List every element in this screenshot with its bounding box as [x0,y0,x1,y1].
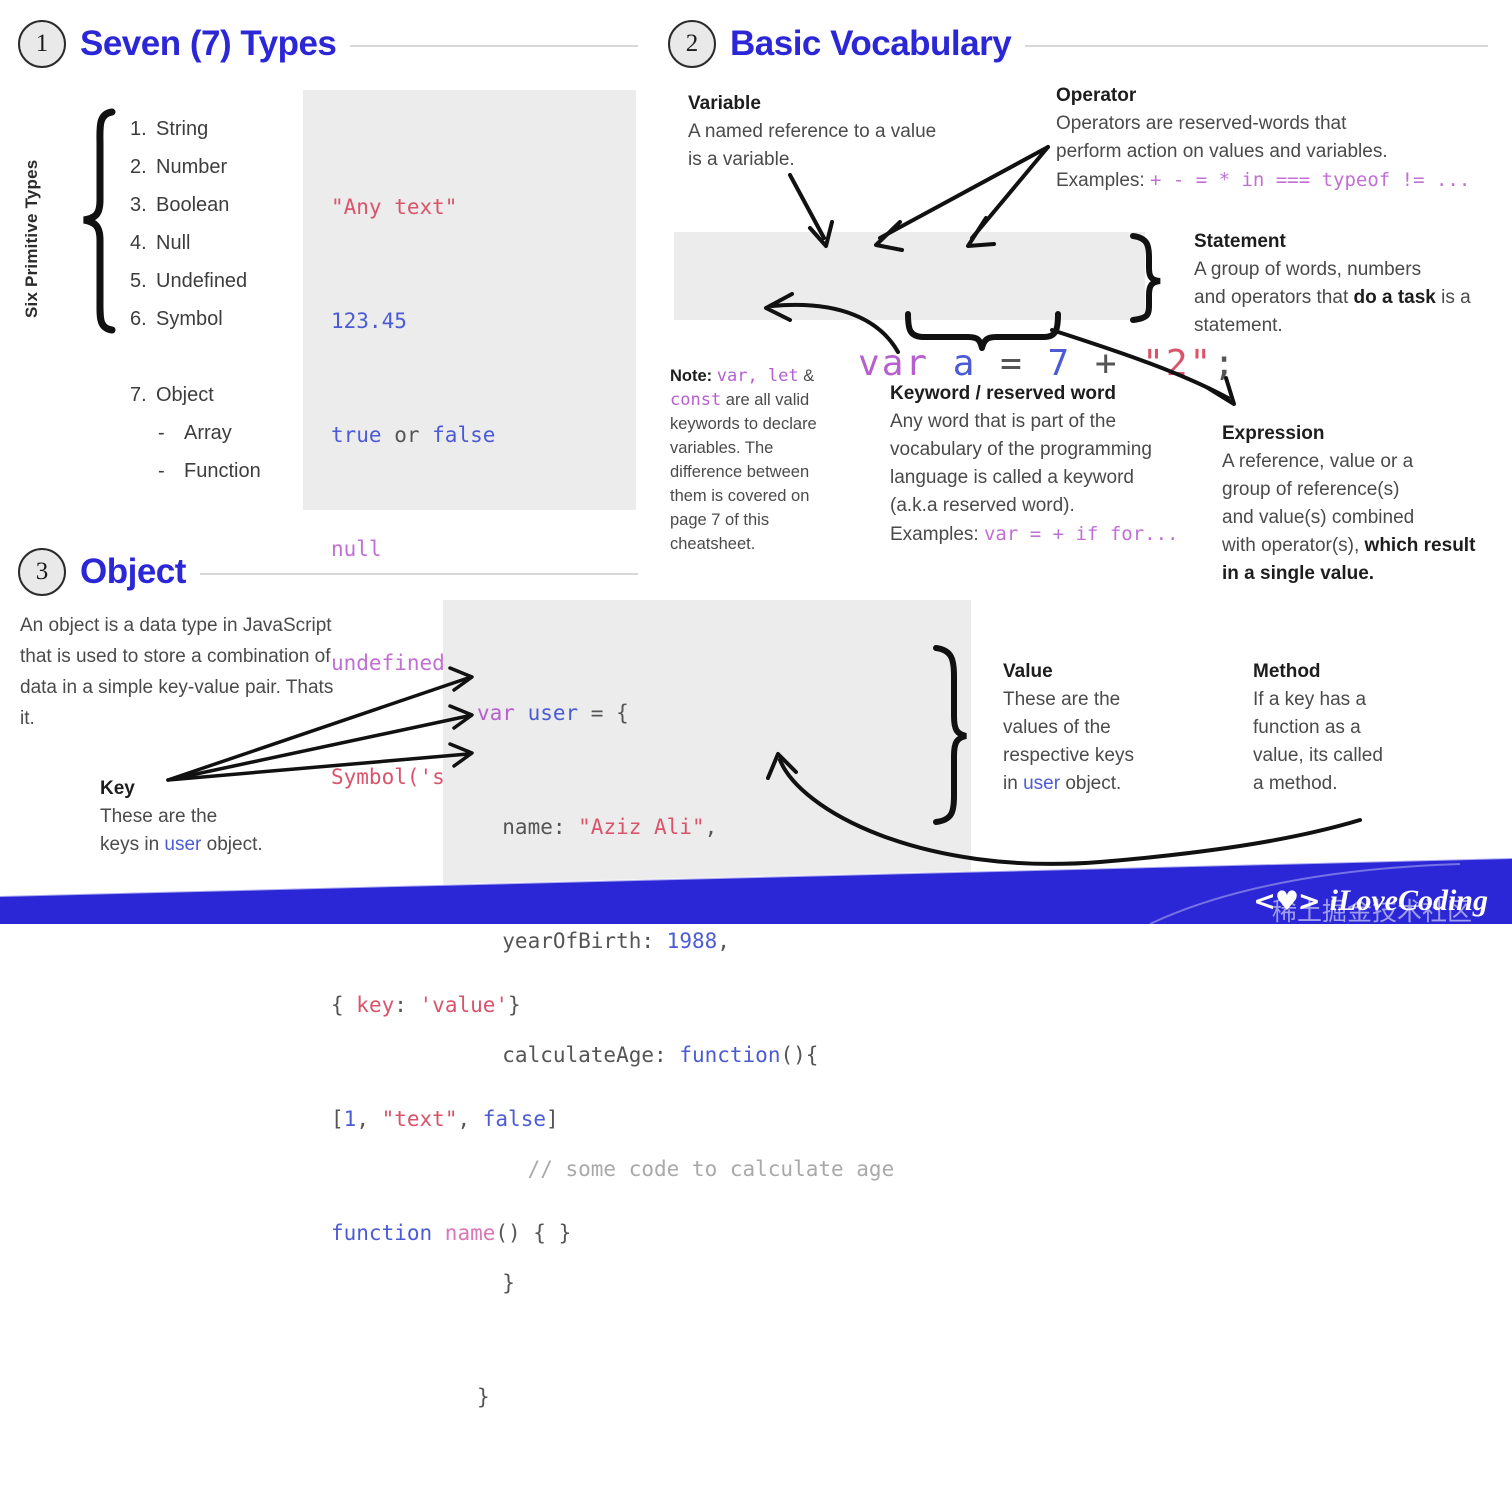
code-line-string: "Any text" [331,188,636,226]
method-line-1: If a key has a [1253,689,1366,710]
operator-examples-code: + - = * in === typeof != ... [1150,169,1470,191]
list-item: 5.Undefined [130,262,261,300]
note-amp: & [799,367,815,385]
types-list: 1.String 2.Number 3.Boolean 4.Null 5.Und… [130,110,261,490]
note-body: are all valid keywords to declare variab… [670,391,817,553]
primitive-types-brace [84,112,112,330]
section-1-title: Seven (7) Types [80,24,336,64]
item-label: Boolean [156,186,229,224]
statement-heading: Statement [1194,228,1484,256]
note-keywords-2: const [670,390,721,410]
item-number: 2. [130,148,156,186]
list-item: 3.Boolean [130,186,261,224]
code-token-semicolon: ; [1213,343,1237,384]
expression-line-2: group of reference(s) [1222,479,1399,500]
object-code-line-6: } [477,1264,971,1302]
code-token-seven: 7 [1047,343,1071,384]
item-label: Null [156,224,190,262]
keyword-examples-label: Examples: [890,524,984,545]
code-line-number: 123.45 [331,302,636,340]
item-label: Array [184,414,232,452]
method-line-4: a method. [1253,773,1338,794]
value-line-3: respective keys [1003,745,1134,766]
item-label: Symbol [156,300,223,338]
keyword-examples-code: var = + if for... [984,523,1178,545]
code-token-two: "2" [1142,343,1213,384]
statement-note: Statement A group of words, numbers and … [1194,228,1484,340]
code-token-plus: + [1071,343,1142,384]
section-3-badge: 3 [18,548,66,596]
list-item: -Array [130,414,261,452]
value-line-1: These are the [1003,689,1120,710]
operator-line-1: Operators are reserved-words that [1056,113,1346,134]
statement-line-1: A group of words, numbers [1194,259,1421,280]
section-2-header: 2 Basic Vocabulary [668,20,1488,68]
list-item: -Function [130,452,261,490]
statement-bold: do a task [1354,287,1436,308]
list-item: 6.Symbol [130,300,261,338]
item-number: 1. [130,110,156,148]
keyword-reserved-note: Keyword / reserved word Any word that is… [890,380,1180,549]
arrow-operator-plus [972,147,1048,238]
key-heading: Key [100,775,320,803]
note-label: Note: [670,367,717,385]
value-line-4c: object. [1060,773,1121,794]
method-note: Method If a key has a function as a valu… [1253,658,1483,798]
code-token-a: a [929,343,976,384]
key-line-1: These are the [100,806,217,827]
expression-heading: Expression [1222,420,1497,448]
item-number: 7. [130,376,156,414]
section-3-header: 3 Object [18,548,638,596]
types-code-panel: "Any text" 123.45 true or false null und… [303,90,636,510]
item-label: Object [156,376,214,414]
value-line-2: values of the [1003,717,1111,738]
expression-note: Expression A reference, value or a group… [1222,420,1497,588]
list-item: 1.String [130,110,261,148]
keyword-note: Note: var, let & const are all valid key… [670,364,845,556]
expression-line-4: with operator(s), [1222,535,1365,556]
item-number: 5. [130,262,156,300]
statement-line-2: and operators that [1194,287,1354,308]
expression-line-3: and value(s) combined [1222,507,1414,528]
value-line-4a: in [1003,773,1023,794]
variable-body: A named reference to a value is a variab… [688,121,936,170]
object-code-line-7: } [477,1378,971,1416]
item-label: Function [184,452,261,490]
item-label: Number [156,148,227,186]
operator-examples-label: Examples: [1056,170,1150,191]
item-number: 3. [130,186,156,224]
section-2-rule [1025,45,1488,47]
method-line-2: function as a [1253,717,1361,738]
value-note: Value These are the values of the respec… [1003,658,1223,798]
object-code-line-1: var user = { [477,694,971,732]
expression-line-1: A reference, value or a [1222,451,1413,472]
section-2-badge: 2 [668,20,716,68]
operator-note: Operator Operators are reserved-words th… [1056,82,1486,195]
value-user-ref: user [1023,773,1060,794]
object-code-line-5: // some code to calculate age [477,1150,971,1188]
six-primitive-types-label: Six Primitive Types [22,118,42,318]
object-code-line-3: yearOfBirth: 1988, [477,922,971,960]
item-bullet: - [158,414,184,452]
note-keywords-1: var, let [717,366,799,386]
object-code-line-4: calculateAge: function(){ [477,1036,971,1074]
section-1-rule [350,45,638,47]
item-label: Undefined [156,262,247,300]
operator-line-2: perform action on values and variables. [1056,141,1388,162]
object-code-line-2: name: "Aziz Ali", [477,808,971,846]
item-bullet: - [158,452,184,490]
section-1-header: 1 Seven (7) Types [18,20,638,68]
section-2-title: Basic Vocabulary [730,24,1011,64]
arrow-variable [790,175,824,238]
variable-heading: Variable [688,90,938,118]
code-token-equals: = [976,343,1047,384]
section-3-rule [200,573,638,575]
code-token-var: var [858,343,929,384]
item-number: 4. [130,224,156,262]
infographic-page: 1 Seven (7) Types Six Primitive Types 1.… [0,0,1512,924]
watermark-text: 稀土掘金技术社区 [1272,892,1472,924]
list-item: 7.Object [130,376,261,414]
list-item: 2.Number [130,148,261,186]
method-heading: Method [1253,658,1483,686]
footer-banner: <♥> iLoveCoding 稀土掘金技术社区 [0,846,1512,924]
code-line-boolean: true or false [331,416,636,454]
keyword-heading: Keyword / reserved word [890,380,1180,408]
method-line-3: value, its called [1253,745,1383,766]
item-number: 6. [130,300,156,338]
value-heading: Value [1003,658,1223,686]
item-label: String [156,110,208,148]
keyword-body: Any word that is part of the vocabulary … [890,411,1152,516]
variable-note: Variable A named reference to a value is… [688,90,938,174]
section-3-title: Object [80,552,186,592]
statement-code-panel: var a = 7 + "2"; [674,232,1145,320]
object-description: An object is a data type in JavaScript t… [20,610,350,734]
list-item: 4.Null [130,224,261,262]
operator-heading: Operator [1056,82,1486,110]
section-1-badge: 1 [18,20,66,68]
